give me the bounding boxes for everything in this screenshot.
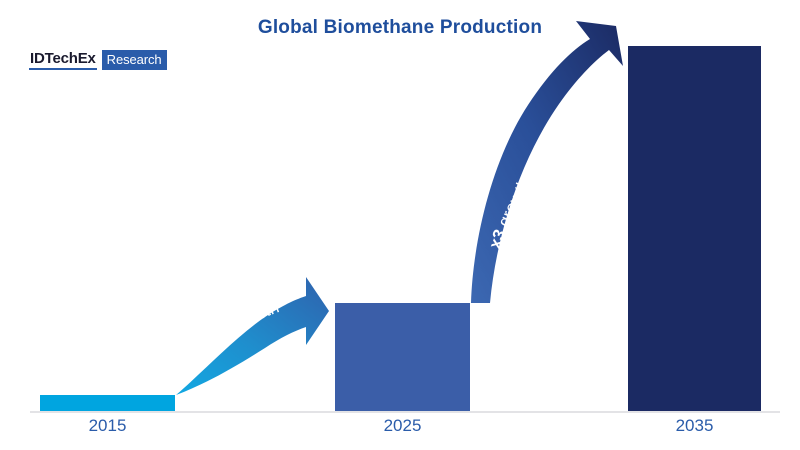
logo-research-badge: Research	[102, 50, 167, 70]
growth-arrow-x6-multiplier: x6	[207, 325, 234, 352]
bar-2015[interactable]	[40, 395, 175, 411]
logo-wordmark: IDTechEx	[29, 50, 97, 70]
x-tick-label-2035: 2035	[628, 416, 761, 436]
x-tick-label-2025: 2025	[335, 416, 470, 436]
growth-arrow-x3-word: growth	[492, 175, 534, 234]
page-title: Global Biomethane Production	[0, 17, 800, 39]
growth-arrow-x6-label: x6 growth	[207, 297, 282, 352]
chart-canvas: Global Biomethane Production IDTechEx Re…	[0, 0, 800, 450]
x-axis-line	[30, 411, 780, 413]
growth-arrow-x6-shape	[176, 277, 329, 395]
growth-arrow-x6-word: growth	[222, 297, 281, 340]
growth-arrow-x6	[176, 277, 329, 395]
bar-2025[interactable]	[335, 303, 470, 411]
bar-2035[interactable]	[628, 46, 761, 411]
idtechex-logo: IDTechEx Research	[29, 50, 167, 70]
x-tick-label-2015: 2015	[40, 416, 175, 436]
growth-arrow-x3-shape	[471, 21, 623, 303]
growth-arrow-x3	[471, 21, 623, 303]
growth-arrow-x3-label: x3 growth	[485, 175, 534, 251]
growth-arrow-x3-multiplier: x3	[485, 227, 510, 252]
